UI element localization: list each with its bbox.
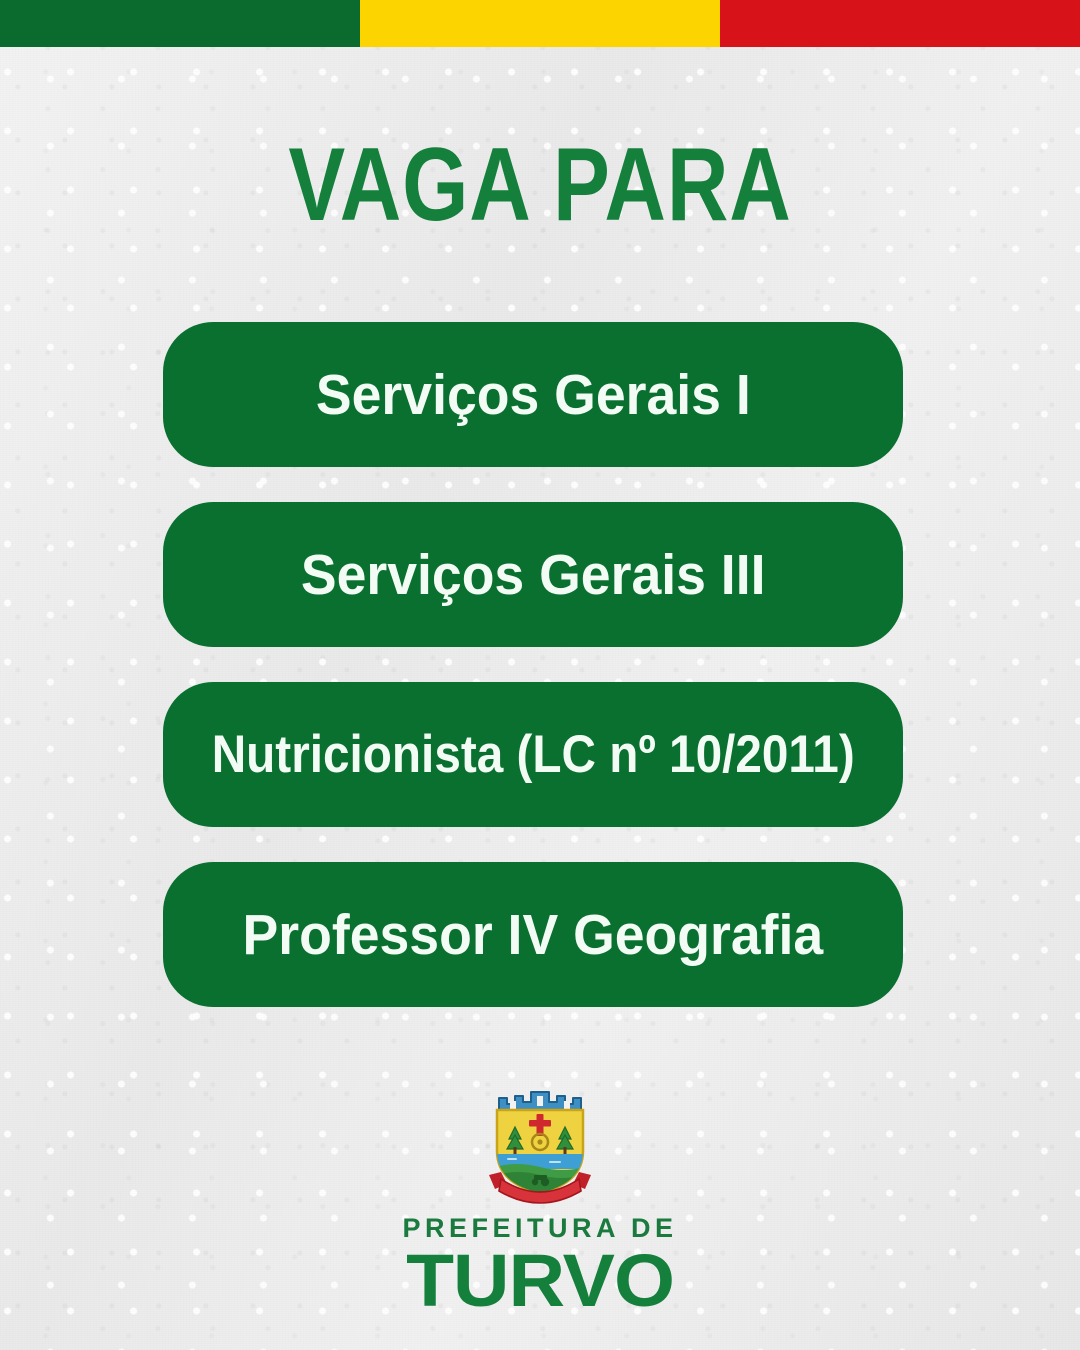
page-title: VAGA PARA [97, 133, 983, 237]
flag-segment-yellow [360, 0, 720, 47]
flag-segment-red [720, 0, 1080, 47]
vacancy-label-2: Serviços Gerais III [301, 544, 766, 606]
turvo-coat-of-arms-icon [477, 1083, 603, 1207]
flag-segment-green [0, 0, 360, 47]
brand-block: PREFEITURA DE TURVO [0, 1083, 1080, 1320]
vacancy-label-3: Nutricionista (LC nº 10/2011) [212, 724, 855, 786]
flag-bar [0, 0, 1080, 47]
vacancy-pill-2[interactable]: Serviços Gerais III [163, 502, 903, 647]
vacancy-list: Serviços Gerais I Serviços Gerais III Nu… [163, 322, 903, 1042]
poster-canvas: VAGA PARA Serviços Gerais I Serviços Ger… [0, 0, 1080, 1350]
vacancy-pill-3[interactable]: Nutricionista (LC nº 10/2011) [163, 682, 903, 827]
vacancy-pill-4[interactable]: Professor IV Geografia [163, 862, 903, 1007]
brand-name: TURVO [0, 1242, 1080, 1320]
vacancy-label-1: Serviços Gerais I [316, 364, 751, 426]
vacancy-pill-1[interactable]: Serviços Gerais I [163, 322, 903, 467]
vacancy-label-4: Professor IV Geografia [243, 904, 824, 966]
